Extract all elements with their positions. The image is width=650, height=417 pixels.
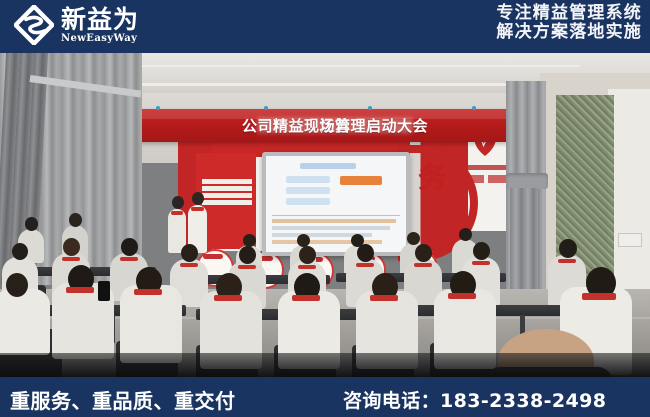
neweasyway-diamond-logo-icon [14, 5, 54, 45]
attendee-collar [448, 293, 476, 299]
header-bar: 新益为 NewEasyWay 专注精益管理系统 解决方案落地实施 [0, 0, 650, 53]
attendee-collar [66, 287, 94, 293]
slogan-line-1: 专注精益管理系统 [496, 4, 642, 23]
attendee-head [69, 213, 82, 227]
brand-name-en: NewEasyWay [61, 34, 139, 44]
stage-whiteboard-strips [202, 179, 252, 205]
attendee-head [181, 244, 198, 262]
attendee-collar [370, 295, 398, 301]
event-banner-text: 江苏 公司精益现场管理启动大会 [132, 109, 538, 142]
attendee-collar [356, 263, 374, 267]
banner-suffix: 公司精益现场管理启动大会 [242, 115, 428, 136]
attendee-head [63, 238, 80, 256]
attendee-head [239, 246, 256, 264]
attendee-collar [472, 261, 490, 265]
slide-divider [272, 215, 400, 216]
attendee-collar [238, 265, 256, 269]
footer-phone-label: 咨询电话： [343, 390, 440, 412]
header-slogan: 专注精益管理系统 解决方案落地实施 [496, 4, 642, 42]
slide-block-2 [286, 187, 330, 194]
slide-title-block [300, 163, 356, 169]
slide-text-line-1 [272, 219, 396, 223]
attendee-torso [0, 289, 50, 355]
attendee-collar [120, 257, 138, 261]
attendee-head [25, 217, 38, 231]
attendee-head [121, 238, 138, 256]
slide-text-line-2 [272, 226, 390, 230]
heart-panel-text-1 [462, 165, 508, 170]
foreground-shadow-band [0, 353, 650, 377]
attendee-collar [214, 295, 242, 301]
attendee-torso [120, 285, 182, 363]
attendee-head [12, 243, 28, 260]
attendee-collar [134, 289, 162, 295]
attendee-collar [582, 293, 616, 300]
slide-highlight-block [340, 176, 382, 185]
conference-photo: 务 [0, 53, 650, 377]
attendee-collar [180, 263, 198, 267]
speaker-2-collar [191, 207, 204, 211]
event-banner: 江苏 公司精益现场管理启动大会 [132, 109, 538, 142]
attendee-collar [414, 263, 432, 267]
heart-panel-text-3 [488, 175, 508, 183]
slide-block-1 [286, 176, 330, 183]
attendee-head [357, 244, 374, 262]
footer-tagline: 重服务、重品质、重交付 [10, 385, 236, 414]
attendee-head [459, 228, 472, 241]
footer-bar: 重服务、重品质、重交付 咨询电话：183-2338-2498 [0, 377, 650, 417]
slogan-line-2: 解决方案落地实施 [496, 23, 642, 42]
attendee-head [243, 234, 256, 247]
attendee-head [6, 273, 28, 297]
attendee-collar [298, 265, 316, 269]
attendee-collar [558, 259, 576, 263]
attendee-head [473, 242, 490, 260]
brand-name-cn: 新益为 [61, 7, 139, 32]
promo-banner-page: 新益为 NewEasyWay 专注精益管理系统 解决方案落地实施 [0, 0, 650, 417]
brand-logo[interactable]: 新益为 NewEasyWay [14, 5, 139, 45]
speaker-1-collar [171, 211, 183, 215]
attendee-head [407, 232, 420, 245]
attendee-collar [292, 295, 320, 301]
wall-switch-plate [618, 233, 642, 247]
footer-phone-number: 183-2338-2498 [440, 390, 606, 412]
slide-block-3 [286, 198, 330, 205]
right-wall-white [608, 89, 650, 299]
stage-badge-1-label [203, 254, 223, 259]
speaker-2-head [192, 192, 204, 205]
ceiling-seam-secondary [110, 65, 580, 67]
attendee-head [559, 239, 577, 258]
smartphone-icon [98, 281, 110, 301]
speaker-1-head [172, 196, 184, 209]
stage-big-character: 务 [418, 163, 447, 192]
attendee-head [299, 246, 316, 264]
curtain-right-tieback [506, 173, 548, 189]
footer-phone[interactable]: 咨询电话：183-2338-2498 [343, 386, 606, 413]
attendee-head [415, 244, 432, 262]
attendee-collar [62, 257, 80, 261]
brand-wordmark: 新益为 NewEasyWay [61, 7, 139, 44]
